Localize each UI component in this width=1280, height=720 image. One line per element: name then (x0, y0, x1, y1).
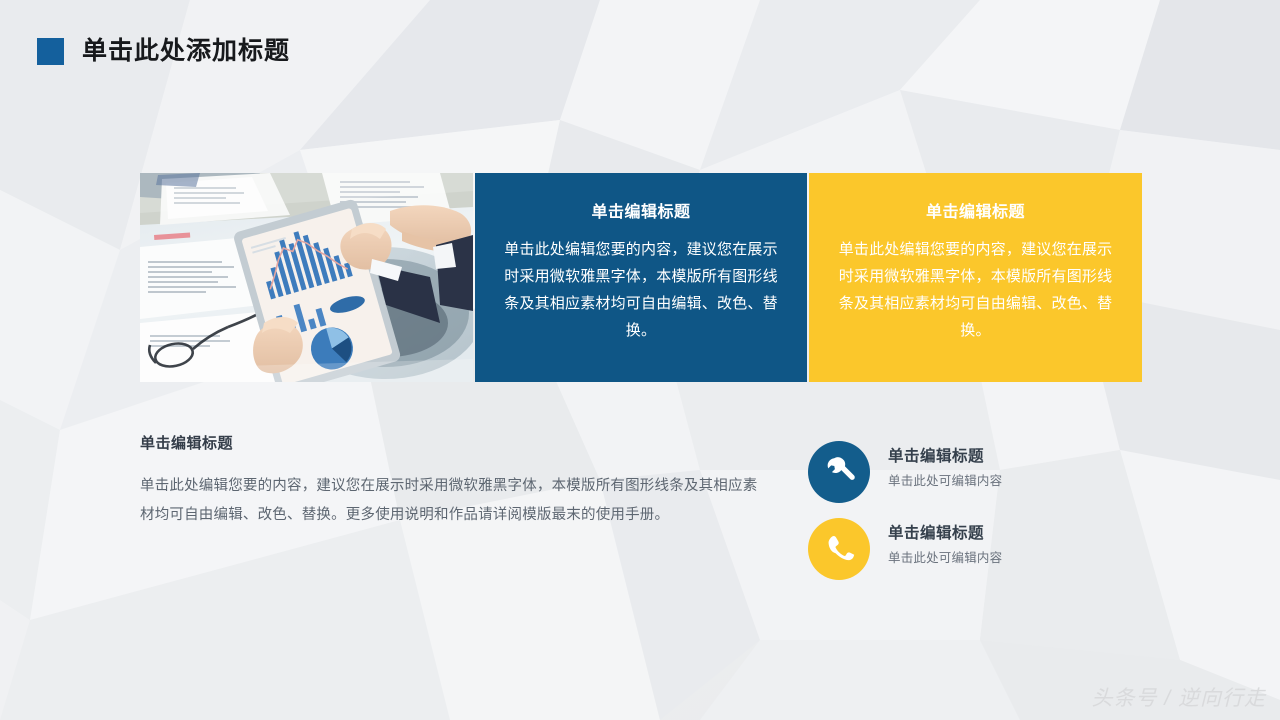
feature-row-phone[interactable]: 单击编辑标题 单击此处可编辑内容 (808, 518, 1148, 580)
phone-icon-circle (808, 518, 870, 580)
feature-heading: 单击编辑标题 (888, 444, 1002, 466)
info-card-yellow[interactable]: 单击编辑标题 单击此处编辑您要的内容，建议您在展示时采用微软雅黑字体，本模版所有… (809, 173, 1142, 382)
card-heading: 单击编辑标题 (833, 203, 1118, 223)
feature-text: 单击编辑标题 单击此处可编辑内容 (888, 444, 1002, 489)
lower-left-heading: 单击编辑标题 (140, 432, 760, 453)
photo-illustration (140, 173, 473, 382)
card-body: 单击此处编辑您要的内容，建议您在展示时采用微软雅黑字体，本模版所有图形线条及其相… (833, 236, 1118, 344)
slide-canvas: 单击此处添加标题 (0, 0, 1280, 720)
page-title: 单击此处添加标题 (82, 31, 290, 67)
card-body: 单击此处编辑您要的内容，建议您在展示时采用微软雅黑字体，本模版所有图形线条及其相… (499, 236, 783, 344)
watermark: 头条号 / 逆向行走 (1091, 682, 1266, 712)
business-tablet-photo (140, 173, 473, 382)
wrench-icon (822, 455, 856, 489)
wrench-icon-circle (808, 441, 870, 503)
title-marker-square (37, 38, 64, 65)
lower-left-text-block: 单击编辑标题 单击此处编辑您要的内容，建议您在展示时采用微软雅黑字体，本模版所有… (140, 432, 760, 530)
feature-subtext: 单击此处可编辑内容 (888, 547, 1002, 566)
lower-left-body: 单击此处编辑您要的内容，建议您在展示时采用微软雅黑字体，本模版所有图形线条及其相… (140, 472, 760, 530)
feature-row-wrench[interactable]: 单击编辑标题 单击此处可编辑内容 (808, 441, 1148, 503)
info-card-blue[interactable]: 单击编辑标题 单击此处编辑您要的内容，建议您在展示时采用微软雅黑字体，本模版所有… (475, 173, 807, 382)
feature-heading: 单击编辑标题 (888, 521, 1002, 543)
feature-text: 单击编辑标题 单击此处可编辑内容 (888, 521, 1002, 566)
card-heading: 单击编辑标题 (499, 203, 783, 223)
phone-icon (823, 533, 855, 565)
feature-subtext: 单击此处可编辑内容 (888, 470, 1002, 489)
